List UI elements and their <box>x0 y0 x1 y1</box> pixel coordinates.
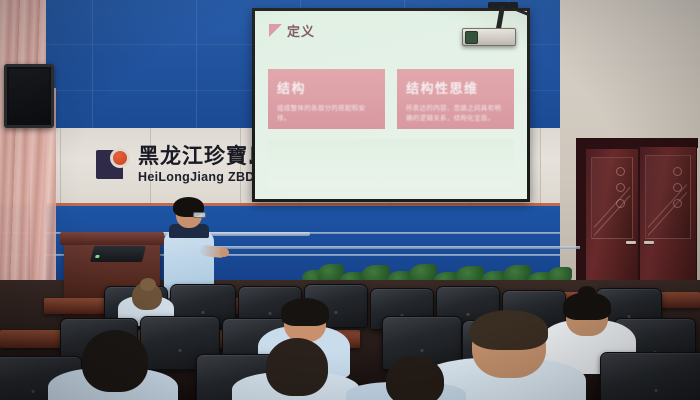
audience-member-head <box>82 330 148 392</box>
slide-box-body: 组成整体的各部分的搭配和安排。 <box>277 104 376 124</box>
company-logo-icon <box>96 148 130 182</box>
audience-member-hair <box>281 298 329 326</box>
slide-box-structural-thinking: 结构性思维 所表达的内容、思路之间具有明确的逻辑关系，结构化呈现。 <box>397 69 514 129</box>
audience-member-hair-bun <box>140 278 156 291</box>
slide-box-heading: 结构性思维 <box>406 78 505 97</box>
audience-member-hair <box>470 310 548 350</box>
seat <box>600 352 700 400</box>
company-name-cn: 黑龙江珍寶島 <box>138 146 270 167</box>
stage-rail-secondary <box>200 246 580 249</box>
door-left[interactable] <box>585 148 639 300</box>
slide-empty-area <box>268 139 514 187</box>
slide-box-body: 所表达的内容、思路之间具有明确的逻辑关系，结构化呈现。 <box>406 104 505 124</box>
presenter-hand <box>220 248 229 257</box>
projector-lens-icon <box>465 31 478 44</box>
projector <box>462 28 516 46</box>
slide-box-structure: 结构 组成整体的各部分的搭配和安排。 <box>268 69 385 129</box>
slide-title-text: 定义 <box>287 21 315 40</box>
slide-title: 定义 <box>269 21 315 40</box>
presenter-glasses <box>193 212 206 218</box>
audience-member-head <box>266 338 328 396</box>
wall-monitor <box>4 64 54 128</box>
audience-member-hair-bun <box>578 286 596 300</box>
audience-member-head <box>386 356 444 400</box>
slide-box-heading: 结构 <box>277 78 376 97</box>
door-right[interactable] <box>639 146 697 300</box>
company-name-en: HeiLongJiang ZBD <box>138 171 270 184</box>
door-jamb-left <box>576 138 585 298</box>
presenter-laptop <box>90 246 146 262</box>
conference-room-photo: 黑龙江珍寶島 HeiLongJiang ZBD 定义 结构 组成整体的各部分的搭… <box>0 0 700 400</box>
triangle-bullet-icon <box>269 24 282 37</box>
